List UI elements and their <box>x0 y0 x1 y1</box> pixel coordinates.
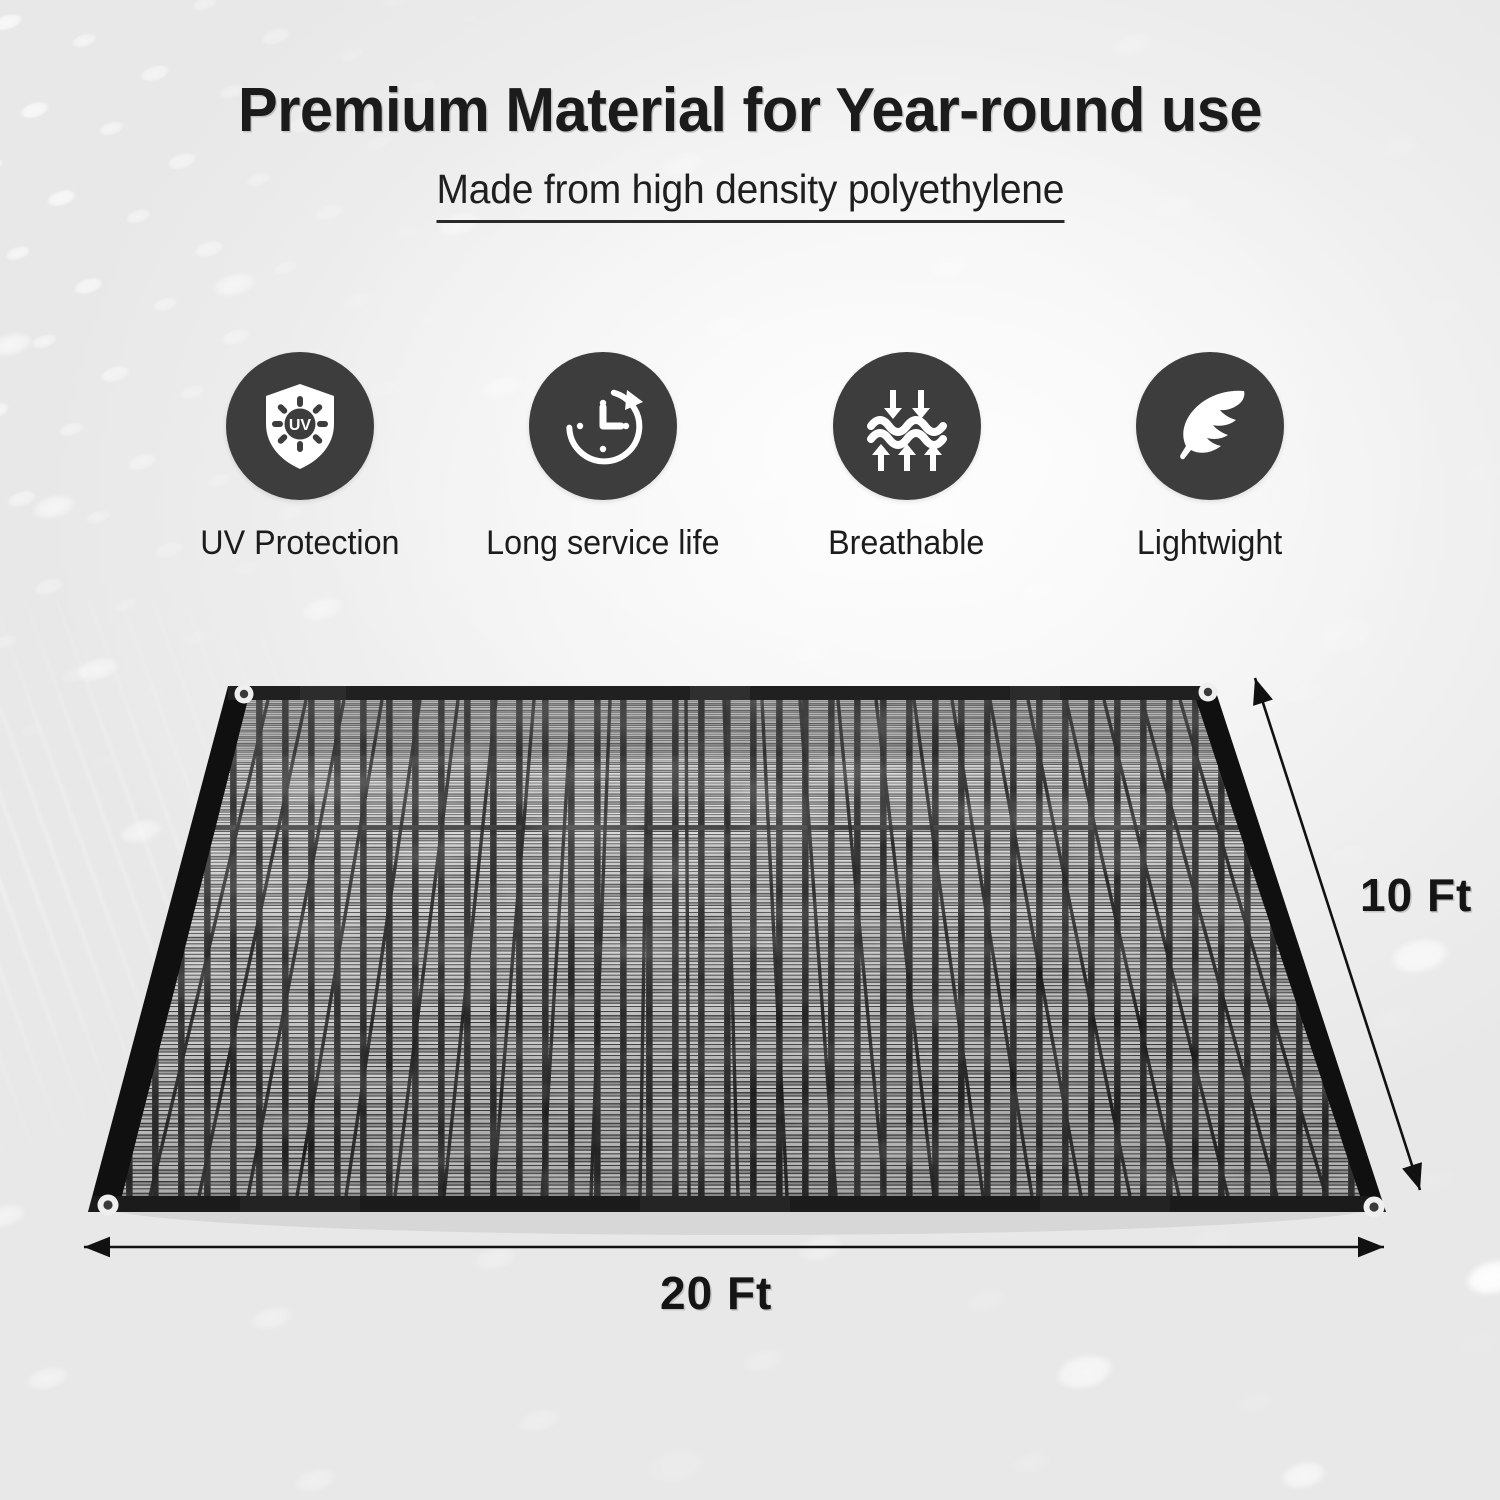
product-infographic-poster: Premium Material for Year-round use Made… <box>0 0 1500 1500</box>
width-dimension-label: 20 Ft <box>660 1266 772 1320</box>
height-dimension-label: 10 Ft <box>1360 868 1472 922</box>
height-dimension-arrow <box>1255 678 1420 1190</box>
